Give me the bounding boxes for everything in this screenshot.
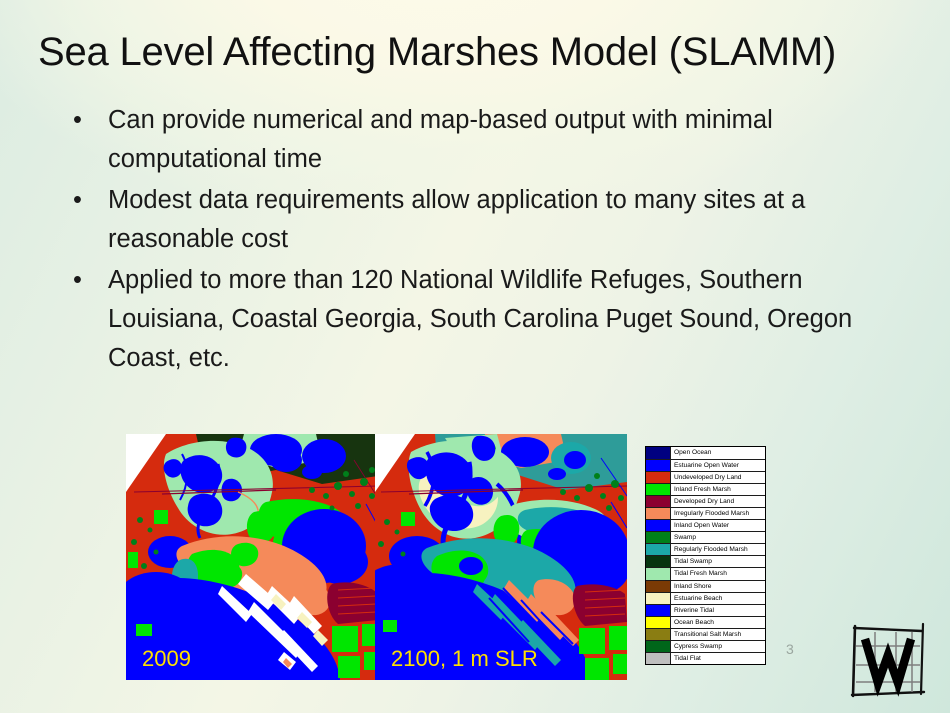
legend-label: Undeveloped Dry Land xyxy=(671,472,765,483)
legend-label: Cypress Swamp xyxy=(671,641,765,652)
bullet-marker-icon: • xyxy=(73,101,82,140)
legend-label: Developed Dry Land xyxy=(671,496,765,507)
map-raster-2009 xyxy=(126,434,378,680)
legend-label: Swamp xyxy=(671,532,765,543)
legend-label: Estuarine Open Water xyxy=(671,460,765,471)
legend-color-swatch xyxy=(646,460,671,471)
legend-row: Swamp xyxy=(646,531,765,543)
legend-color-swatch xyxy=(646,617,671,628)
logo-mark-icon xyxy=(846,622,930,702)
legend-row: Tidal Fresh Marsh xyxy=(646,567,765,579)
list-item: • Modest data requirements allow applica… xyxy=(66,181,866,259)
legend-row: Inland Open Water xyxy=(646,519,765,531)
list-item: • Applied to more than 120 National Wild… xyxy=(66,261,866,378)
map-figure-2100: 2100, 1 m SLR xyxy=(375,434,627,680)
legend-label: Open Ocean xyxy=(671,447,765,459)
legend-color-swatch xyxy=(646,472,671,483)
bullet-marker-icon: • xyxy=(73,181,82,220)
list-item-text: Applied to more than 120 National Wildli… xyxy=(108,266,852,372)
legend-label: Transitional Salt Marsh xyxy=(671,629,765,640)
legend-label: Tidal Flat xyxy=(671,653,765,664)
legend-label: Estuarine Beach xyxy=(671,593,765,604)
page-title: Sea Level Affecting Marshes Model (SLAMM… xyxy=(38,27,918,77)
page-number: 3 xyxy=(786,641,794,657)
legend-color-swatch xyxy=(646,484,671,495)
slide: Sea Level Affecting Marshes Model (SLAMM… xyxy=(0,0,950,713)
legend-color-swatch xyxy=(646,605,671,616)
legend-color-swatch xyxy=(646,532,671,543)
bullet-list: • Can provide numerical and map-based ou… xyxy=(66,101,866,380)
legend-row: Developed Dry Land xyxy=(646,495,765,507)
legend-color-swatch xyxy=(646,629,671,640)
map-figure-2009: 2009 xyxy=(126,434,378,680)
legend-color-swatch xyxy=(646,568,671,579)
legend-row: Cypress Swamp xyxy=(646,640,765,652)
map-raster-2100 xyxy=(375,434,627,680)
logo xyxy=(846,622,930,702)
legend-row: Riverine Tidal xyxy=(646,604,765,616)
legend-color-swatch xyxy=(646,653,671,664)
legend-row: Transitional Salt Marsh xyxy=(646,628,765,640)
legend-row: Estuarine Beach xyxy=(646,592,765,604)
legend-row: Inland Shore xyxy=(646,580,765,592)
legend-row: Tidal Swamp xyxy=(646,555,765,567)
legend-color-swatch xyxy=(646,447,671,459)
legend-row: Irregularly Flooded Marsh xyxy=(646,507,765,519)
legend-color-swatch xyxy=(646,544,671,555)
legend-label: Irregularly Flooded Marsh xyxy=(671,508,765,519)
legend-color-swatch xyxy=(646,581,671,592)
list-item-text: Modest data requirements allow applicati… xyxy=(108,186,805,253)
list-item: • Can provide numerical and map-based ou… xyxy=(66,101,866,179)
list-item-text: Can provide numerical and map-based outp… xyxy=(108,106,773,173)
legend-label: Regularly Flooded Marsh xyxy=(671,544,765,555)
legend-row: Regularly Flooded Marsh xyxy=(646,543,765,555)
legend-color-swatch xyxy=(646,556,671,567)
legend-label: Tidal Swamp xyxy=(671,556,765,567)
legend-label: Riverine Tidal xyxy=(671,605,765,616)
legend-row: Estuarine Open Water xyxy=(646,459,765,471)
legend-row: Tidal Flat xyxy=(646,652,765,664)
legend-row: Undeveloped Dry Land xyxy=(646,471,765,483)
legend-label: Inland Fresh Marsh xyxy=(671,484,765,495)
legend-row: Inland Fresh Marsh xyxy=(646,483,765,495)
legend-row: Ocean Beach xyxy=(646,616,765,628)
legend-label: Ocean Beach xyxy=(671,617,765,628)
legend-color-swatch xyxy=(646,508,671,519)
legend-label: Tidal Fresh Marsh xyxy=(671,568,765,579)
legend-color-swatch xyxy=(646,641,671,652)
bullet-marker-icon: • xyxy=(73,261,82,300)
legend-color-swatch xyxy=(646,593,671,604)
legend-color-swatch xyxy=(646,520,671,531)
legend-row: Open Ocean xyxy=(646,447,765,459)
legend-label: Inland Open Water xyxy=(671,520,765,531)
map-legend: Open OceanEstuarine Open WaterUndevelope… xyxy=(645,446,766,665)
legend-label: Inland Shore xyxy=(671,581,765,592)
legend-color-swatch xyxy=(646,496,671,507)
